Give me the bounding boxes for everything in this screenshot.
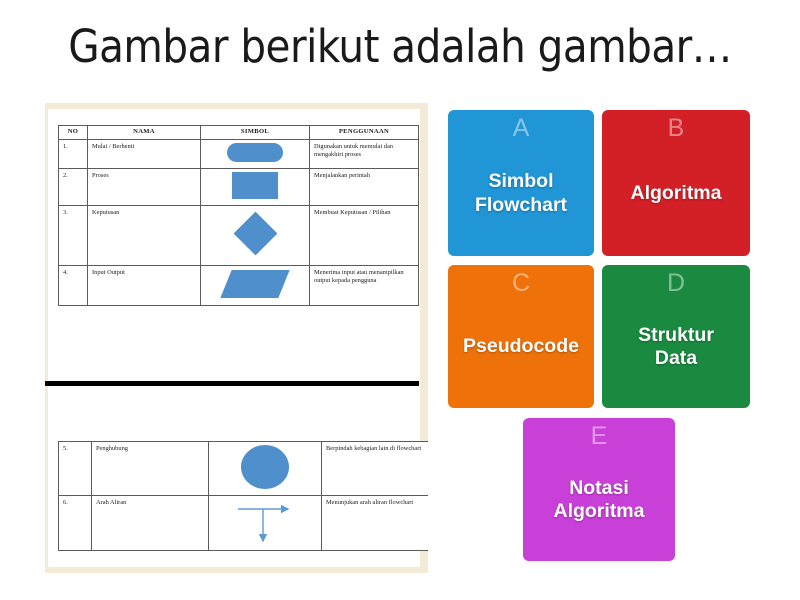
- answer-label-b: Algoritma: [622, 141, 729, 256]
- table-row: 4. Input Output Menerima input atau mena…: [59, 265, 419, 305]
- input-output-shape-icon: [220, 270, 289, 298]
- quiz-slide: Gambar berikut adalah gambar… NO NAMA SI…: [0, 0, 800, 600]
- table-row: 1. Mulai / Berhenti Digunakan untuk memu…: [59, 139, 419, 168]
- answer-letter-a: A: [513, 115, 530, 141]
- connector-circle-shape-icon: [241, 445, 289, 489]
- cell-symbol: [201, 265, 310, 305]
- column-header-nama: NAMA: [88, 126, 201, 140]
- answer-letter-e: E: [591, 423, 608, 449]
- answer-option-d[interactable]: D Struktur Data: [602, 265, 750, 408]
- cell-no: 6.: [59, 496, 92, 551]
- cell-penggunaan: Membuat Keputusan / Pilihan: [310, 206, 419, 265]
- cell-nama: Keputusan: [88, 206, 201, 265]
- column-header-simbol: SIMBOL: [201, 126, 310, 140]
- cell-penggunaan: Menjalankan perintah: [310, 168, 419, 205]
- cell-penggunaan: Digunakan untuk memulai dan mengakhiri p…: [310, 139, 419, 168]
- column-header-penggunaan: PENGGUNAAN: [310, 126, 419, 140]
- decision-shape-icon: [233, 212, 277, 256]
- cell-no: 2.: [59, 168, 88, 205]
- table-row: 6. Arah Aliran: [59, 496, 429, 551]
- question-image-panel[interactable]: NO NAMA SIMBOL PENGGUNAAN 1. Mulai / Ber…: [45, 103, 428, 573]
- terminator-shape-icon: [227, 143, 283, 162]
- answer-letter-b: B: [668, 115, 685, 141]
- cell-symbol: [201, 168, 310, 205]
- cell-penggunaan: Menunjukan arah aliran flowchart: [322, 496, 429, 551]
- answer-letter-d: D: [667, 270, 685, 296]
- page-title: Gambar berikut adalah gambar…: [0, 20, 800, 73]
- cell-no: 1.: [59, 139, 88, 168]
- cell-nama: Penghubung: [92, 442, 209, 496]
- cell-nama: Arah Aliran: [92, 496, 209, 551]
- cell-symbol: [201, 139, 310, 168]
- answer-option-c[interactable]: C Pseudocode: [448, 265, 594, 408]
- cell-nama: Proses: [88, 168, 201, 205]
- answer-label-c: Pseudocode: [455, 296, 587, 408]
- flow-arrow-shape-icon: [213, 499, 317, 547]
- cell-penggunaan: Menerima input atau menampilkan output k…: [310, 265, 419, 305]
- cell-no: 4.: [59, 265, 88, 305]
- cell-no: 3.: [59, 206, 88, 265]
- answer-label-e: Notasi Algoritma: [545, 449, 652, 561]
- process-shape-icon: [232, 172, 278, 199]
- table-row: 5. Penghubung Berpindah kebagian lain di…: [59, 442, 429, 496]
- cell-symbol: [209, 496, 322, 551]
- table-row: 2. Proses Menjalankan perintah: [59, 168, 419, 205]
- cell-no: 5.: [59, 442, 92, 496]
- cell-symbol: [201, 206, 310, 265]
- answer-letter-c: C: [512, 270, 530, 296]
- cell-nama: Input Output: [88, 265, 201, 305]
- answer-option-b[interactable]: B Algoritma: [602, 110, 750, 256]
- answer-option-e[interactable]: E Notasi Algoritma: [523, 418, 675, 561]
- flowchart-symbol-table-top: NO NAMA SIMBOL PENGGUNAAN 1. Mulai / Ber…: [58, 125, 419, 306]
- cell-penggunaan: Berpindah kebagian lain di flowchart: [322, 442, 429, 496]
- answer-label-a: Simbol Flowchart: [467, 141, 575, 256]
- flowchart-symbol-table-bottom: 5. Penghubung Berpindah kebagian lain di…: [58, 441, 428, 551]
- table-row: 3. Keputusan Membuat Keputusan / Pilihan: [59, 206, 419, 265]
- answer-option-a[interactable]: A Simbol Flowchart: [448, 110, 594, 256]
- image-divider-line: [45, 381, 419, 386]
- column-header-no: NO: [59, 126, 88, 140]
- table-header-row: NO NAMA SIMBOL PENGGUNAAN: [59, 126, 419, 140]
- cell-symbol: [209, 442, 322, 496]
- answer-label-d: Struktur Data: [630, 296, 722, 408]
- cell-nama: Mulai / Berhenti: [88, 139, 201, 168]
- question-image-canvas: NO NAMA SIMBOL PENGGUNAAN 1. Mulai / Ber…: [48, 109, 420, 567]
